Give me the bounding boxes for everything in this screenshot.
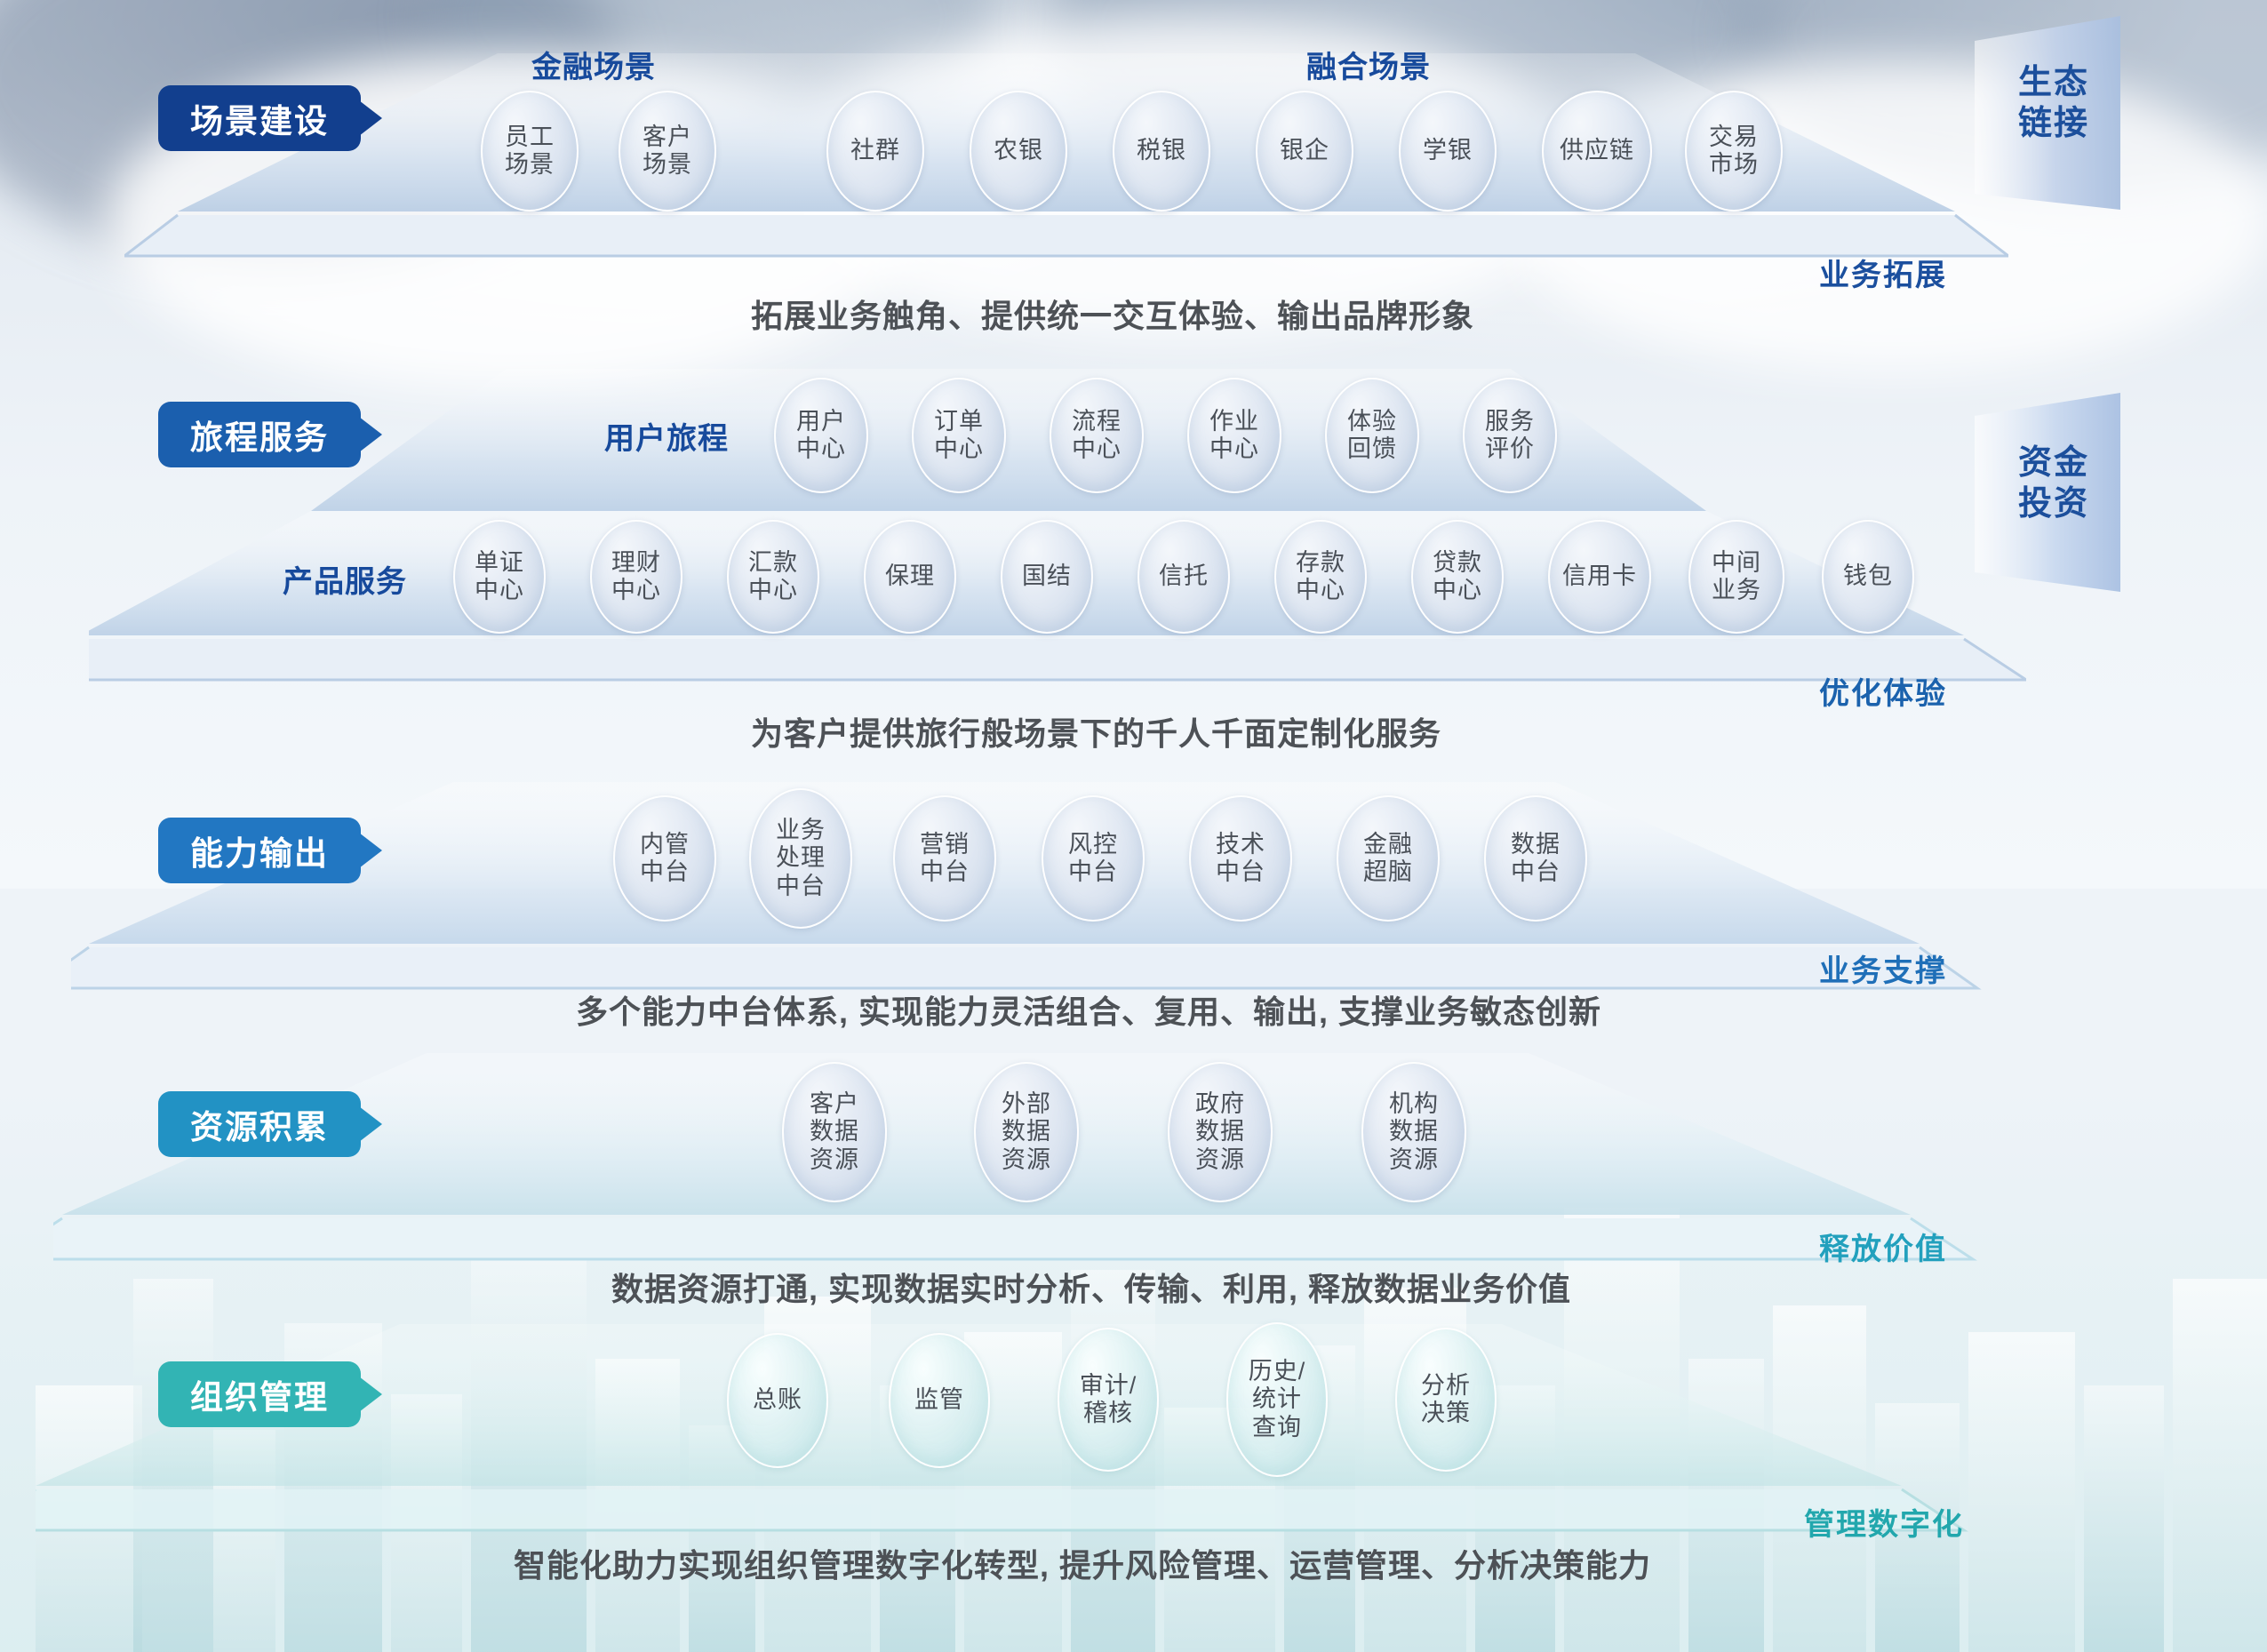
node-scene-trading-market[interactable]: 交易 市场 — [1685, 91, 1783, 211]
tier-2-tag[interactable]: 旅程服务 — [158, 402, 361, 467]
tier-2-tag-label: 旅程服务 — [190, 411, 329, 459]
ribbon-capital-investment: 资金 投资 — [1955, 391, 2186, 604]
node-scene-bank-enterprise[interactable]: 银企 — [1256, 91, 1353, 211]
node-scene-school-bank[interactable]: 学银 — [1399, 91, 1497, 211]
tier-5-description: 智能化助力实现组织管理数字化转型, 提升风险管理、运营管理、分析决策能力 — [514, 1540, 1651, 1586]
tier-3-step-shape — [71, 782, 2026, 1004]
tier-3-tag[interactable]: 能力输出 — [158, 818, 361, 883]
node-product-deposit-center[interactable]: 存款 中心 — [1274, 520, 1367, 634]
tier-1-description: 拓展业务触角、提供统一交互体验、输出品牌形象 — [751, 291, 1474, 337]
node-product-intl-settlement[interactable]: 国结 — [1001, 520, 1093, 634]
tier-3-tag-label: 能力输出 — [190, 826, 329, 874]
node-capability-business-processing[interactable]: 业务 处理 中台 — [749, 788, 852, 929]
node-product-factoring[interactable]: 保理 — [864, 520, 956, 634]
ribbon-ecosystem-link-label: 生态 链接 — [1987, 62, 2120, 145]
node-capability-data[interactable]: 数据 中台 — [1484, 795, 1587, 922]
node-product-trust[interactable]: 信托 — [1137, 520, 1230, 634]
node-product-credit-card[interactable]: 信用卡 — [1548, 520, 1651, 634]
tier-3-description: 多个能力中台体系, 实现能力灵活组合、复用、输出, 支撑业务敏态创新 — [576, 986, 1601, 1033]
node-org-analysis-decision[interactable]: 分析 决策 — [1395, 1328, 1497, 1472]
node-org-supervision[interactable]: 监管 — [889, 1333, 990, 1468]
node-scene-customer[interactable]: 客户 场景 — [619, 91, 716, 211]
tier-4-tag-label: 资源积累 — [190, 1100, 329, 1148]
tier-3-band-label: 业务支撑 — [1819, 946, 1947, 990]
tier-2-description: 为客户提供旅行般场景下的千人千面定制化服务 — [751, 708, 1441, 754]
node-journey-user-center[interactable]: 用户 中心 — [774, 378, 868, 493]
node-scene-community[interactable]: 社群 — [826, 91, 924, 211]
tier-1-band-label: 业务拓展 — [1819, 251, 1947, 294]
node-scene-employee[interactable]: 员工 场景 — [481, 91, 579, 211]
node-scene-tax-bank[interactable]: 税银 — [1113, 91, 1210, 211]
tag-arrow-icon — [359, 1106, 382, 1142]
node-resource-government-data[interactable]: 政府 数据 资源 — [1168, 1062, 1273, 1202]
tier-4-description: 数据资源打通, 实现数据实时分析、传输、利用, 释放数据业务价值 — [611, 1264, 1571, 1310]
node-journey-experience-feedback[interactable]: 体验 回馈 — [1325, 378, 1419, 493]
node-capability-technology[interactable]: 技术 中台 — [1189, 795, 1292, 922]
tag-arrow-icon — [359, 100, 382, 136]
tier-1-tag[interactable]: 场景建设 — [158, 85, 361, 151]
tier-2-group-1-caption: 用户旅程 — [604, 414, 729, 458]
node-org-audit-inspection[interactable]: 审计/ 稽核 — [1058, 1328, 1159, 1472]
tier-1-group-2-caption: 融合场景 — [1306, 43, 1431, 86]
tier-5-band-label: 管理数字化 — [1804, 1500, 1964, 1544]
tier-5-step-shape — [36, 1324, 2026, 1546]
ribbon-capital-investment-label: 资金 投资 — [1987, 443, 2120, 525]
node-capability-risk-control[interactable]: 风控 中台 — [1042, 795, 1145, 922]
node-capability-internal-mgmt[interactable]: 内管 中台 — [613, 795, 716, 922]
node-capability-marketing[interactable]: 营销 中台 — [893, 795, 996, 922]
tier-5-tag[interactable]: 组织管理 — [158, 1361, 361, 1427]
node-product-wallet[interactable]: 钱包 — [1822, 520, 1914, 634]
tier-1-group-1-caption: 金融场景 — [531, 43, 656, 86]
node-journey-process-center[interactable]: 流程 中心 — [1050, 378, 1144, 493]
node-product-intermediary-business[interactable]: 中间 业务 — [1688, 520, 1784, 634]
node-journey-operation-center[interactable]: 作业 中心 — [1187, 378, 1281, 493]
tier-4-tag[interactable]: 资源积累 — [158, 1091, 361, 1157]
tier-1-tag-label: 场景建设 — [190, 94, 329, 142]
node-journey-order-center[interactable]: 订单 中心 — [912, 378, 1006, 493]
node-capability-finance-brain[interactable]: 金融 超脑 — [1337, 795, 1440, 922]
node-org-general-ledger[interactable]: 总账 — [727, 1333, 828, 1468]
tier-2-band-label: 优化体验 — [1819, 669, 1947, 713]
tag-arrow-icon — [359, 417, 382, 452]
tag-arrow-icon — [359, 833, 382, 868]
node-product-loan-center[interactable]: 贷款 中心 — [1411, 520, 1504, 634]
node-product-wealth-center[interactable]: 理财 中心 — [590, 520, 682, 634]
node-scene-supply-chain[interactable]: 供应链 — [1542, 91, 1652, 211]
tier-2-group-2-caption: 产品服务 — [283, 557, 407, 601]
tier-5-tag-label: 组织管理 — [190, 1370, 329, 1418]
tag-arrow-icon — [359, 1377, 382, 1412]
node-journey-service-rating[interactable]: 服务 评价 — [1463, 378, 1557, 493]
tier-4-band-label: 释放价值 — [1819, 1225, 1947, 1268]
node-org-history-statistics-query[interactable]: 历史/ 统计 查询 — [1226, 1322, 1328, 1477]
ribbon-ecosystem-link: 生态 链接 — [1955, 16, 2186, 220]
node-product-document-center[interactable]: 单证 中心 — [453, 520, 546, 634]
node-resource-institution-data[interactable]: 机构 数据 资源 — [1361, 1062, 1466, 1202]
node-scene-agri-bank[interactable]: 农银 — [970, 91, 1067, 211]
node-resource-external-data[interactable]: 外部 数据 资源 — [974, 1062, 1079, 1202]
node-product-remittance-center[interactable]: 汇款 中心 — [727, 520, 819, 634]
node-resource-customer-data[interactable]: 客户 数据 资源 — [782, 1062, 887, 1202]
